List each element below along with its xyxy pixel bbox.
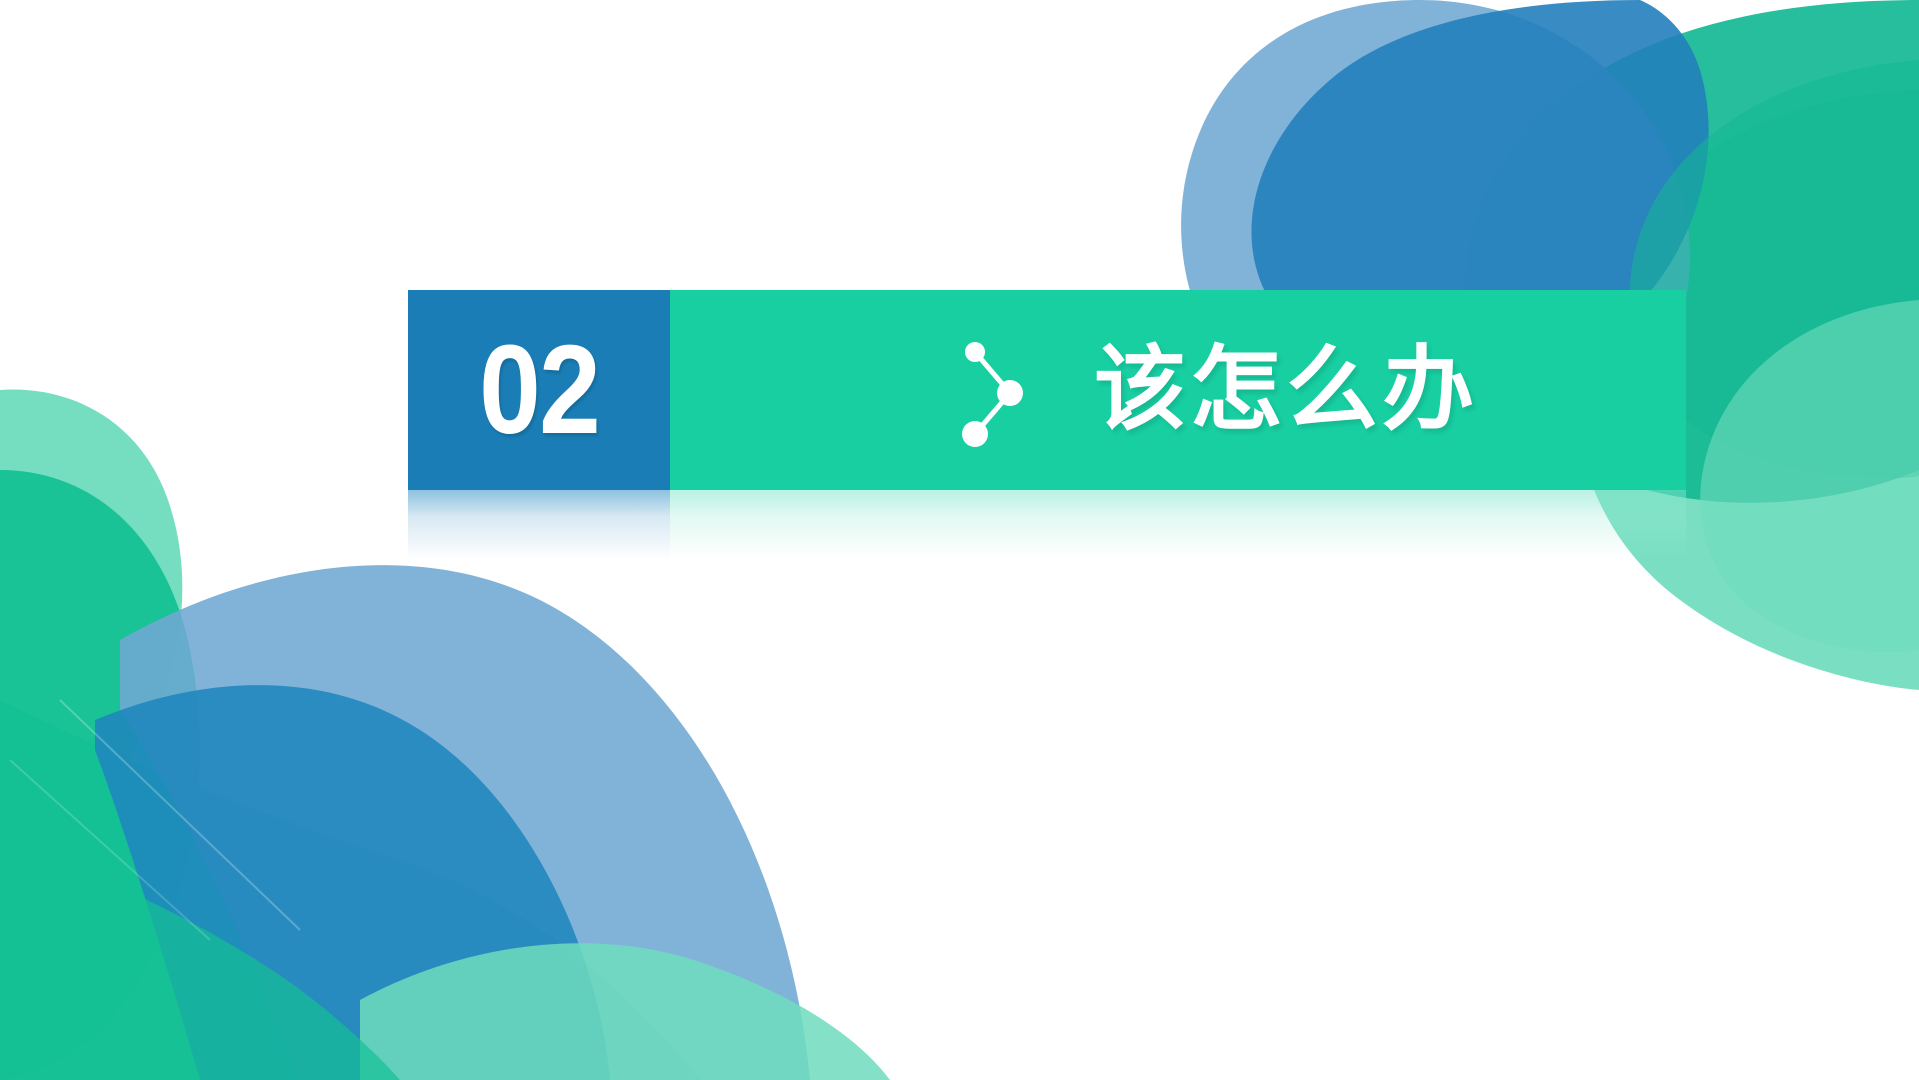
section-header-bar: 02 该怎么办: [408, 290, 1686, 490]
highlight-line-bl: [60, 700, 300, 930]
section-number-box: 02: [408, 290, 670, 490]
section-title-box: 该怎么办: [670, 290, 1686, 490]
section-number: 02: [479, 327, 599, 453]
petal-green-soft-tr: [1700, 300, 1919, 652]
petal-green-dark-bl: [0, 470, 200, 1080]
petal-green-fill-bl: [0, 700, 700, 1080]
section-title-text: 该怎么办: [1094, 344, 1478, 436]
petal-blue-light-bl: [120, 565, 810, 1080]
petal-green-light-bl: [0, 390, 182, 862]
chevron-dots-icon: [962, 338, 1032, 448]
number-box-reflection: [408, 490, 670, 560]
highlight-line-2-bl: [10, 760, 210, 940]
petal-green-band-bl: [0, 840, 400, 1080]
petal-green-sweep-bl: [360, 943, 890, 1080]
petal-blue-dark-bl: [95, 685, 610, 1080]
presentation-slide: 02 该怎么办: [0, 0, 1919, 1080]
title-box-reflection: [670, 490, 1686, 560]
